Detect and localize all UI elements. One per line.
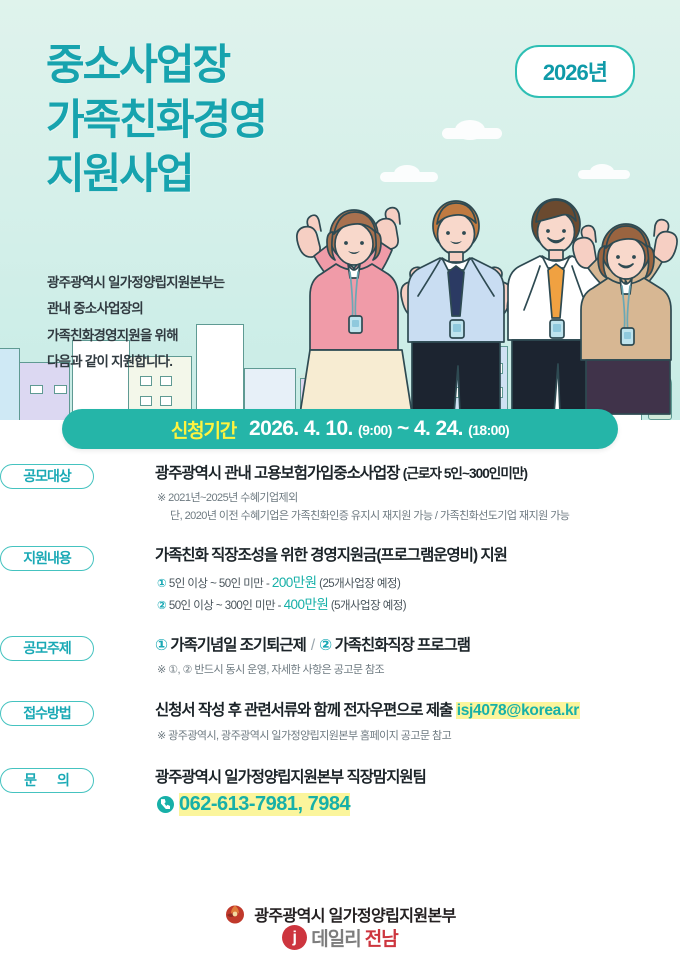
support-item-2-tail: (5개사업장 예정) [328, 600, 406, 612]
year-badge: 2026년 [515, 45, 635, 98]
date-end: 4. 24. [414, 417, 463, 440]
title-line-1: 중소사업장 [46, 38, 266, 93]
time-end: (18:00) [468, 422, 509, 438]
cloud-icon [442, 128, 502, 139]
support-item-1-tail: (25개사업장 예정) [317, 578, 401, 590]
section-label-eligibility: 공모대상 [0, 464, 94, 489]
lead-line-2: 관내 중소사업장의 [47, 296, 224, 322]
eligibility-text: 광주광역시 관내 고용보험가입중소사업장 [155, 465, 399, 482]
application-period-value: 2026. 4. 10. (9:00) ~ 4. 24. (18:00) [249, 417, 509, 441]
support-item-1-num: ① [157, 578, 166, 590]
support-item-2: ② 50인 이상 ~ 300인 미만 - 400만원 (5개사업장 예정) [157, 594, 680, 616]
people-thumbs-up-illustration [292, 188, 680, 420]
lead-line-3: 가족친화경영지원을 위해 [47, 323, 224, 349]
footer-organization: 광주광역시 일가정양립지원본부 [0, 902, 680, 926]
contact-phone-row[interactable]: 062-613-7981, 7984 [157, 793, 680, 816]
support-item-2-amount: 400만원 [284, 597, 329, 612]
section-label-topics: 공모주제 [0, 636, 94, 661]
section-contact: 문 의 광주광역시 일가정양립지원본부 직장맘지원팀 062-613-7981,… [0, 766, 680, 816]
contact-main: 광주광역시 일가정양립지원본부 직장맘지원팀 [155, 766, 680, 789]
cloud-icon [578, 170, 630, 179]
section-eligibility: 공모대상 광주광역시 관내 고용보험가입중소사업장 (근로자 5인~300인미만… [0, 462, 680, 526]
lead-line-1: 광주광역시 일가정양립지원본부는 [47, 270, 224, 296]
topics-main: ① 가족기념일 조기퇴근제/② 가족친화직장 프로그램 [155, 634, 680, 657]
gwangju-city-logo-icon [224, 903, 246, 925]
submission-note: ※ 광주광역시, 광주광역시 일가정양립지원본부 홈페이지 공고문 참고 [157, 728, 680, 746]
phone-icon [157, 796, 174, 813]
topic-1-num: ① [155, 637, 167, 654]
lead-paragraph: 광주광역시 일가정양립지원본부는 관내 중소사업장의 가족친화경영지원을 위해 … [47, 270, 224, 376]
support-item-1-text: 5인 이상 ~ 50인 미만 - [169, 578, 272, 590]
watermark-text-part1: 데일리 [311, 924, 360, 951]
section-label-contact: 문 의 [0, 768, 94, 793]
footer-org-name: 광주광역시 일가정양립지원본부 [254, 902, 456, 926]
date-start: 2026. 4. 10. [249, 417, 353, 440]
section-topics: 공모주제 ① 가족기념일 조기퇴근제/② 가족친화직장 프로그램 ※ ①, ② … [0, 634, 680, 680]
title-line-2: 가족친화경영 [46, 93, 266, 148]
submission-main: 신청서 작성 후 관련서류와 함께 전자우편으로 제출 isj4078@kore… [155, 699, 680, 722]
application-period-banner: 신청기간 2026. 4. 10. (9:00) ~ 4. 24. (18:00… [62, 409, 618, 449]
support-item-1-amount: 200만원 [272, 575, 317, 590]
date-tilde: ~ [397, 417, 409, 440]
section-submission: 접수방법 신청서 작성 후 관련서류와 함께 전자우편으로 제출 isj4078… [0, 699, 680, 745]
submission-email[interactable]: isj4078@korea.kr [456, 702, 580, 719]
time-start: (9:00) [358, 422, 392, 438]
application-period-label: 신청기간 [171, 416, 236, 443]
section-label-support: 지원내용 [0, 546, 94, 571]
topics-note: ※ ①, ② 반드시 동시 운영, 자세한 사항은 공고문 참조 [157, 662, 680, 680]
support-item-1: ① 5인 이상 ~ 50인 미만 - 200만원 (25개사업장 예정) [157, 572, 680, 594]
lead-line-4: 다음과 같이 지원합니다. [47, 349, 224, 375]
eligibility-main: 광주광역시 관내 고용보험가입중소사업장 (근로자 5인~300인미만) [155, 462, 680, 485]
support-main: 가족친화 직장조성을 위한 경영지원금(프로그램운영비) 지원 [155, 544, 680, 567]
support-items: ① 5인 이상 ~ 50인 미만 - 200만원 (25개사업장 예정) ② 5… [157, 572, 680, 616]
section-label-submission: 접수방법 [0, 701, 94, 726]
topic-1-text: 가족기념일 조기퇴근제 [170, 637, 305, 654]
topic-2-num: ② [319, 637, 331, 654]
section-support: 지원내용 가족친화 직장조성을 위한 경영지원금(프로그램운영비) 지원 ① 5… [0, 544, 680, 616]
eligibility-note-1: ※ 2021년~2025년 수혜기업제외 [157, 492, 298, 504]
eligibility-notes: ※ 2021년~2025년 수혜기업제외 단, 2020년 이전 수혜기업은 가… [157, 490, 680, 526]
submission-text: 신청서 작성 후 관련서류와 함께 전자우편으로 제출 [155, 702, 452, 719]
eligibility-detail: (근로자 5인~300인미만) [403, 466, 527, 481]
hero-section: 2026년 중소사업장 가족친화경영 지원사업 광주광역시 일가정양립지원본부는… [0, 0, 680, 420]
topic-2-text: 가족친화직장 프로그램 [335, 637, 470, 654]
watermark-text-part2: 전남 [365, 924, 398, 951]
topic-separator: / [311, 637, 314, 654]
watermark-logo-icon: j [282, 925, 307, 950]
support-item-2-text: 50인 이상 ~ 300인 미만 - [169, 600, 284, 612]
cloud-icon [380, 172, 438, 182]
poster-root: 2026년 중소사업장 가족친화경영 지원사업 광주광역시 일가정양립지원본부는… [0, 0, 680, 962]
info-sections: 공모대상 광주광역시 관내 고용보험가입중소사업장 (근로자 5인~300인미만… [0, 462, 680, 821]
eligibility-note-2: 단, 2020년 이전 수혜기업은 가족친화인증 유지시 재지원 가능 / 가족… [157, 508, 680, 526]
page-title: 중소사업장 가족친화경영 지원사업 [46, 38, 266, 202]
title-line-3: 지원사업 [46, 147, 266, 202]
watermark: j 데일리 전남 [0, 924, 680, 951]
contact-phone-number[interactable]: 062-613-7981, 7984 [179, 793, 350, 816]
support-item-2-num: ② [157, 600, 166, 612]
